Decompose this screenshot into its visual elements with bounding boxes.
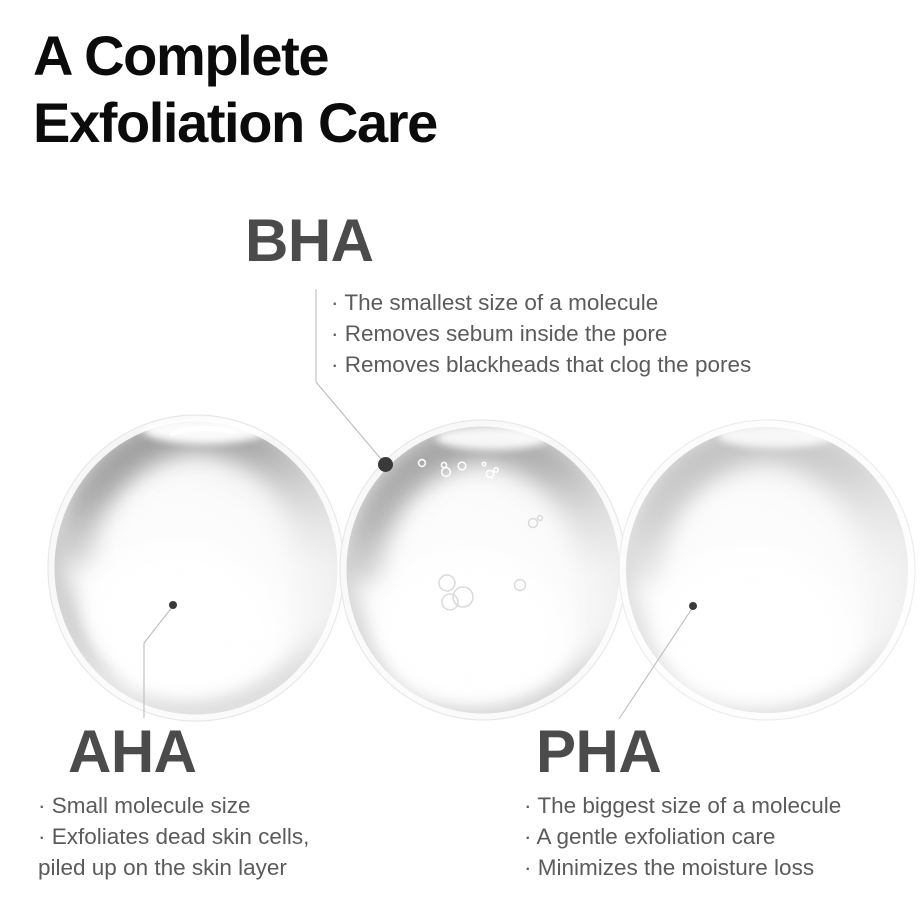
bullet-aha-2: · Exfoliates dead skin cells,: [38, 821, 309, 852]
page-title-line-2: Exfoliation Care: [33, 89, 653, 156]
bullet-aha-2-continuation: piled up on the skin layer: [38, 852, 309, 883]
water-droplet-pha: [606, 420, 915, 742]
bullet-pha-2: · A gentle exfoliation care: [524, 821, 841, 852]
bullet-bha-2: · Removes sebum inside the pore: [331, 318, 751, 349]
bullet-bha-1: · The smallest size of a molecule: [331, 287, 751, 318]
exfoliation-care-graphic: A Complete Exfoliation Care: [0, 0, 922, 922]
page-title-line-1: A Complete: [33, 22, 653, 89]
section-bullets-pha: · The biggest size of a molecule · A gen…: [524, 790, 841, 883]
section-bullets-aha: · Small molecule size · Exfoliates dead …: [38, 790, 309, 883]
section-title-aha: AHA: [68, 722, 197, 782]
bubble-cluster-top: [419, 460, 499, 478]
bullet-pha-3: · Minimizes the moisture loss: [524, 852, 841, 883]
callout-dot-bha: [378, 457, 393, 472]
section-bullets-bha: · The smallest size of a molecule · Remo…: [331, 287, 751, 380]
water-droplet-aha: [32, 412, 344, 732]
bullet-aha-1: · Small molecule size: [38, 790, 309, 821]
page-title: A Complete Exfoliation Care: [33, 22, 653, 156]
section-title-pha: PHA: [536, 722, 661, 782]
section-title-bha: BHA: [245, 211, 374, 271]
callout-dot-aha: [169, 601, 177, 609]
leader-line-aha: [144, 606, 173, 718]
callout-dot-pha: [689, 602, 697, 610]
water-droplet-bha: [326, 420, 626, 740]
bubble-cluster-inner: [439, 516, 543, 611]
bullet-bha-3: · Removes blackheads that clog the pores: [331, 349, 751, 380]
leader-line-pha: [619, 607, 693, 719]
bullet-pha-1: · The biggest size of a molecule: [524, 790, 841, 821]
